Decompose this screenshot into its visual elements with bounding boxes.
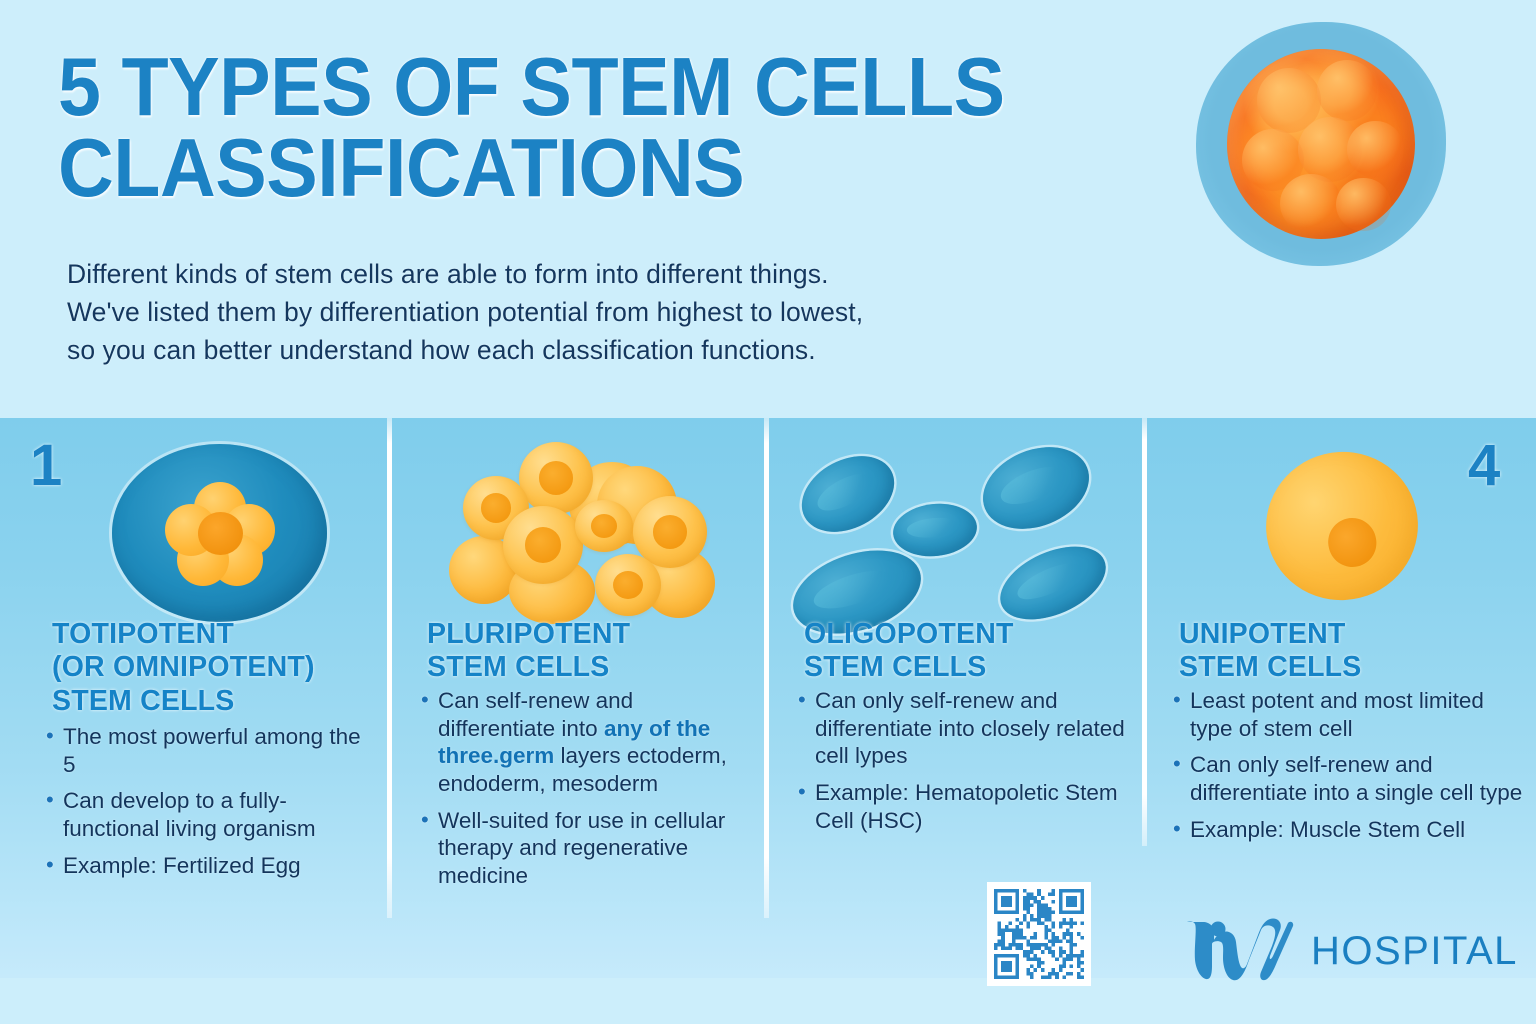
blood-cell-dimple (810, 563, 897, 616)
logo-text: HOSPITAL (1311, 929, 1518, 974)
heading-line: UNIPOTENT (1179, 618, 1519, 651)
cell-ring (519, 442, 593, 514)
blood-cell-dimple (906, 515, 960, 540)
list-item: Well-suited for use in cellular therapy … (419, 807, 754, 890)
list-item: Example: Muscle Stem Cell (1171, 816, 1526, 844)
list-item: Can develop to a fully-functional living… (44, 787, 374, 842)
cell-nucleus (591, 514, 618, 538)
liv-hospital-logo: HOSPITAL (1181, 918, 1518, 984)
column-heading-unipotent: UNIPOTENT STEM CELLS (1179, 618, 1519, 685)
blastocyst-lobe (1336, 178, 1391, 231)
column-totipotent: TOTIPOTENT (OR OMNIPOTENT) STEM CELLS Th… (0, 418, 387, 978)
page-title: 5 TYPES OF STEM CELLS CLASSIFICATIONS (58, 46, 1109, 209)
column-unipotent: UNIPOTENT STEM CELLS Least potent and mo… (1147, 418, 1536, 978)
qr-code[interactable] (987, 882, 1091, 986)
list-item: Example: Hematopoletic Stem Cell (HSC) (796, 779, 1126, 834)
pluripotent-cell-group (447, 440, 717, 626)
bullet-list-totipotent: The most powerful among the 5 Can develo… (44, 723, 374, 888)
list-item: The most powerful among the 5 (44, 723, 374, 778)
single-cell-body (1250, 436, 1433, 616)
blood-cell-group (789, 438, 1124, 628)
blastocyst-lobe (1317, 60, 1377, 121)
heading-line: STEM CELLS (804, 651, 1134, 684)
list-item: Example: Fertilized Egg (44, 852, 374, 880)
blood-cell-dimple (1013, 556, 1086, 606)
blastocyst-cell-cluster-icon (1196, 22, 1446, 266)
oligopotent-blood-cells (769, 430, 1142, 625)
heading-line: TOTIPOTENT (52, 618, 382, 651)
blastocyst-mass (1227, 49, 1415, 239)
blood-cell (789, 441, 907, 547)
column-heading-oligopotent: OLIGOPOTENT STEM CELLS (804, 618, 1134, 685)
list-item: Least potent and most limited type of st… (1171, 687, 1526, 742)
list-item: Can only self-renew and differentiate in… (1171, 751, 1526, 806)
header-section: 5 TYPES OF STEM CELLS CLASSIFICATIONS Di… (0, 0, 1536, 418)
bullet-list-unipotent: Least potent and most limited type of st… (1171, 687, 1526, 852)
page-subtitle-line-3: so you can better understand how each cl… (67, 332, 1157, 370)
bullet-list-pluripotent: Can self-renew and differentiate into an… (419, 687, 754, 899)
totipotent-nucleus (198, 512, 243, 555)
heading-line: (OR OMNIPOTENT) (52, 651, 382, 684)
page-subtitle-line-2: We've listed them by differentiation pot… (67, 294, 1157, 332)
blood-cell-dimple (812, 466, 878, 517)
totipotent-cell-diagram (0, 430, 387, 625)
column-heading-pluripotent: PLURIPOTENT STEM CELLS (427, 618, 757, 685)
cell-ring (503, 506, 583, 584)
heading-line: PLURIPOTENT (427, 618, 757, 651)
heading-line: STEM CELLS (1179, 651, 1519, 684)
cell-ring (595, 554, 661, 616)
unipotent-single-cell (1147, 430, 1536, 625)
blastocyst-lobe (1347, 121, 1403, 178)
page-title-line-1: 5 TYPES OF STEM CELLS (58, 46, 1109, 127)
cell-ring (575, 500, 633, 552)
totipotent-cell-group (165, 482, 275, 586)
cell-nucleus (613, 571, 643, 600)
qr-code-grid (994, 889, 1084, 979)
cell-nucleus (539, 461, 573, 494)
bullet-list-oligopotent: Can only self-renew and differentiate in… (796, 687, 1126, 843)
cell-nucleus (653, 515, 687, 548)
blood-cell (971, 432, 1101, 544)
single-cell-nucleus (1323, 513, 1382, 572)
liv-script-logo (1181, 918, 1299, 984)
column-heading-totipotent: TOTIPOTENT (OR OMNIPOTENT) STEM CELLS (52, 618, 382, 718)
blood-cell-dimple (995, 459, 1069, 511)
pluripotent-cell-cluster (392, 430, 764, 625)
cell-nucleus (525, 527, 562, 563)
heading-line: STEM CELLS (427, 651, 757, 684)
page-subtitle: Different kinds of stem cells are able t… (67, 256, 1157, 370)
list-item: Can self-renew and differentiate into an… (419, 687, 754, 798)
heading-line: STEM CELLS (52, 685, 382, 718)
list-item: Can only self-renew and differentiate in… (796, 687, 1126, 770)
column-pluripotent: PLURIPOTENT STEM CELLS Can self-renew an… (392, 418, 764, 978)
page-title-line-2: CLASSIFICATIONS (58, 127, 1109, 208)
cell-nucleus (481, 493, 511, 522)
heading-line: OLIGOPOTENT (804, 618, 1134, 651)
blastocyst-lobe (1280, 174, 1342, 233)
blood-cell (891, 500, 980, 560)
page-subtitle-line-1: Different kinds of stem cells are able t… (67, 256, 1157, 294)
